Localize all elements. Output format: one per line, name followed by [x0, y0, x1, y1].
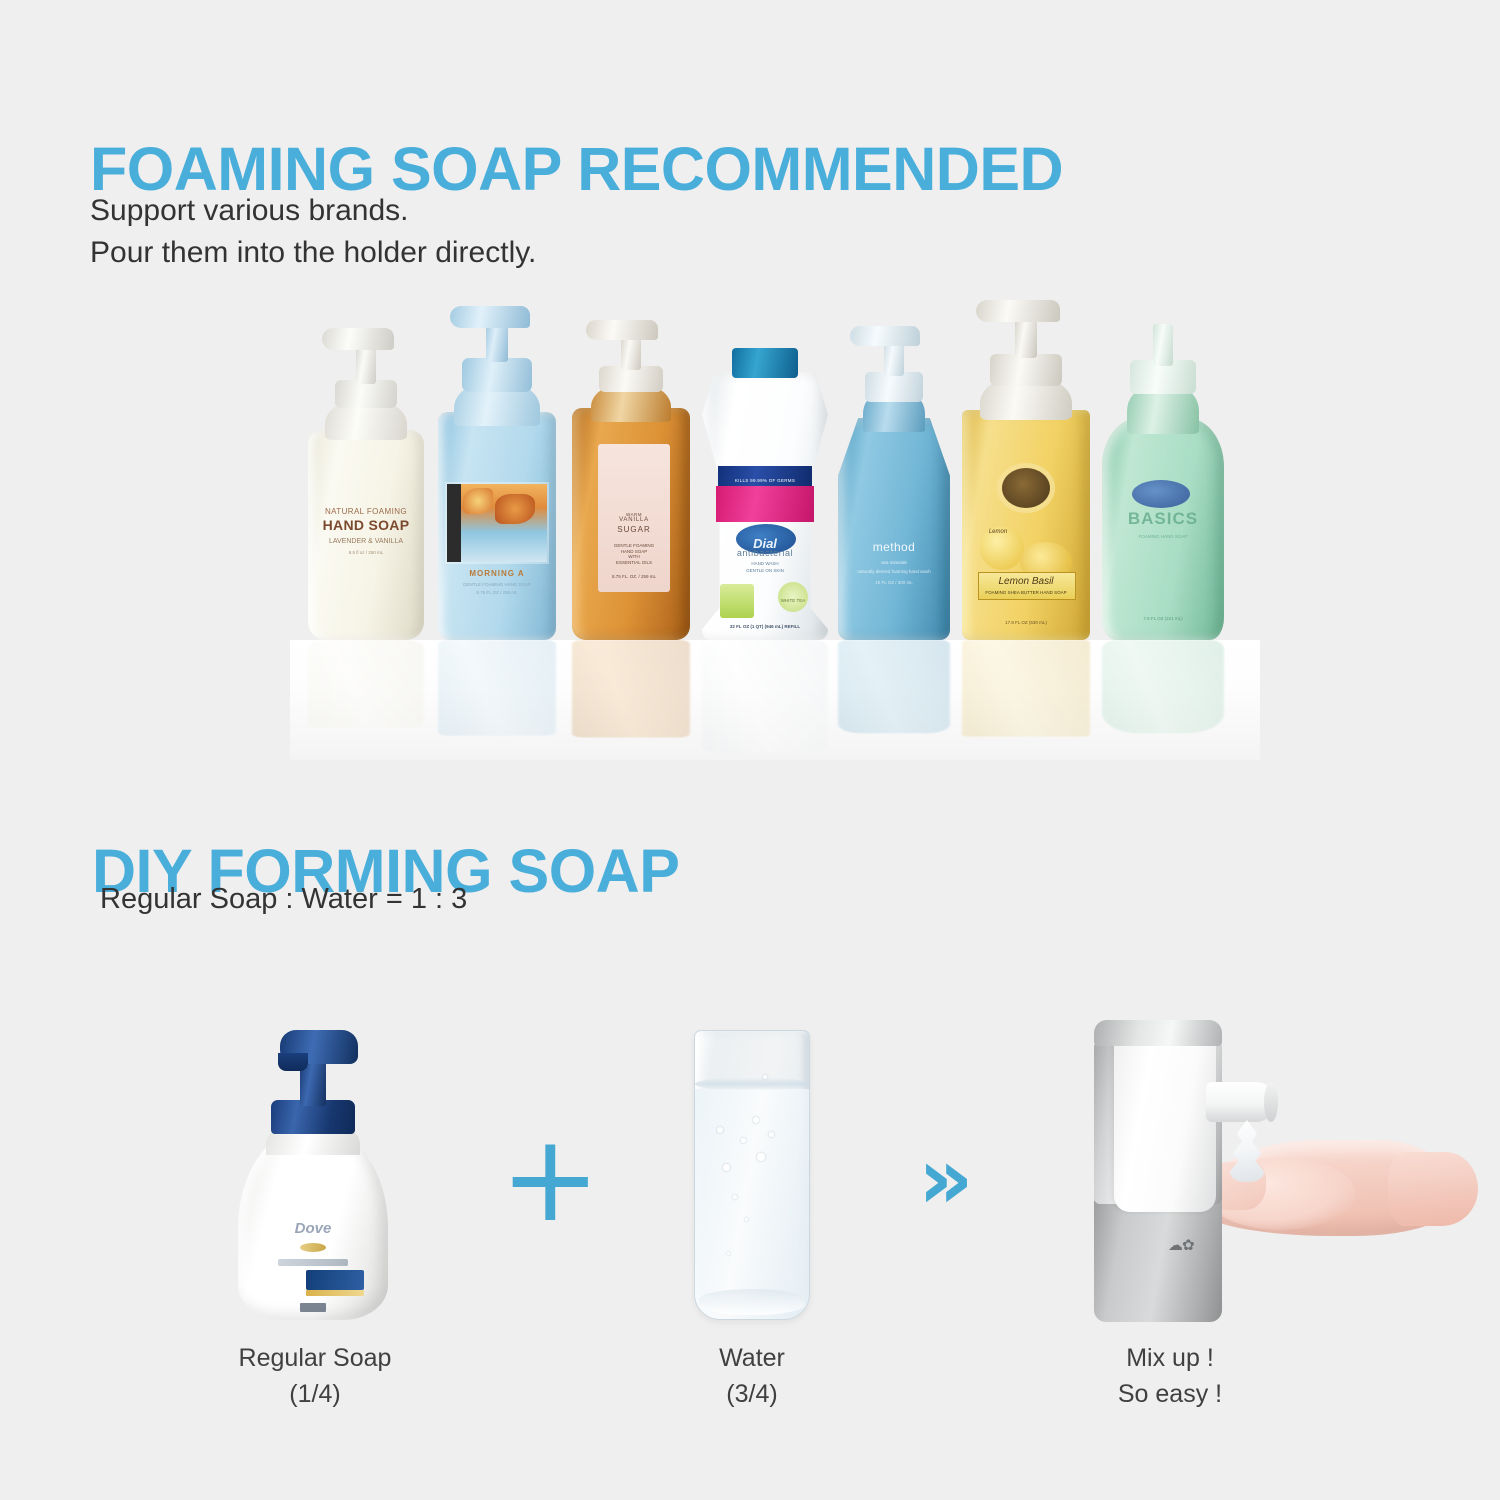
bottle-natural-foaming-hand-soap: NATURAL FOAMING HAND SOAP LAVENDER & VAN…: [308, 340, 424, 640]
ratio-text: Regular Soap : Water = 1 : 3: [100, 883, 467, 916]
bottle-label-lemon: Lemon: [973, 529, 1023, 537]
hand-sensor-icon: ☁✿: [1168, 1238, 1214, 1264]
display-surface: [290, 640, 1260, 760]
pump-head: [976, 300, 1060, 322]
bottle-label: WARM VANILLA SUGAR GENTLE FOAMING HAND S…: [598, 512, 670, 580]
bottle-method-foaming-hand-wash: method sea minerals naturally derived fo…: [838, 324, 950, 640]
caption-line-2: (1/4): [155, 1376, 475, 1412]
bottle-lemon-basil-foaming-soap: Lemon Lemon Basil FOAMING SHEA BUTTER HA…: [962, 292, 1090, 640]
dispenser-front-panel: [1114, 1030, 1216, 1212]
label-line-5: GENTLE ON SKIN: [715, 568, 815, 574]
label-line-4: 7.5 FL OZ (221 mL): [1110, 616, 1216, 622]
bottle-label-volume: 7.5 FL OZ (221 mL): [1110, 616, 1216, 622]
label-line-2: VANILLA: [598, 517, 670, 525]
bottle-vanilla-sugar-foaming-soap: WARM VANILLA SUGAR GENTLE FOAMING HAND S…: [572, 322, 690, 640]
infographic-page: FOAMING SOAP RECOMMENDED Support various…: [0, 0, 1500, 1500]
bubble: [733, 1195, 737, 1199]
bottle-lineup: NATURAL FOAMING HAND SOAP LAVENDER & VAN…: [290, 340, 1260, 760]
label-line-7: ESSENTIAL OILS: [598, 560, 670, 566]
subtitle-line-2: Pour them into the holder directly.: [90, 232, 536, 275]
label-line-1: KILLS 99.99% OF GERMS: [718, 478, 812, 484]
label-line-6: WHITE TEA: [778, 598, 808, 604]
pump-head: [450, 306, 530, 328]
pink-band: [716, 486, 814, 522]
water-fill: [695, 1089, 809, 1319]
label-line-3: naturally derived foaming hand wash: [846, 569, 942, 575]
dispenser-lid: [1094, 1020, 1222, 1046]
bottle-shoulder: [1127, 388, 1199, 434]
bottle-window: [1002, 468, 1050, 508]
caption-regular-soap: Regular Soap (1/4): [155, 1340, 475, 1413]
label-line-7: 32 FL OZ (1 QT) (946 mL) REFILL: [710, 624, 820, 630]
bubble: [757, 1153, 765, 1161]
label-line-2: Lemon Basil: [978, 576, 1074, 589]
label-text-bar-2: [300, 1303, 326, 1312]
bubble: [741, 1138, 746, 1143]
label-line-1: Lemon: [973, 529, 1023, 537]
label-line-4: 10 FL OZ / 300 mL: [846, 580, 942, 586]
promo-badge: [720, 584, 754, 618]
bottle-collar: [462, 358, 532, 392]
bottle-label: method sea minerals naturally derived fo…: [846, 540, 942, 586]
bottle-label: Lemon Basil FOAMING SHEA BUTTER HAND SOA…: [978, 576, 1074, 596]
caption-water: Water (3/4): [592, 1340, 912, 1413]
diy-step-regular-soap: Dove: [238, 1018, 408, 1320]
caption-line-1: Mix up !: [1010, 1340, 1330, 1376]
variant-badge: [778, 582, 808, 612]
label-line-1: MORNING A: [445, 569, 549, 579]
bottle-collar: [990, 354, 1062, 386]
label-line-2: BASICS: [1110, 508, 1216, 529]
caption-mix-result: Mix up ! So easy !: [1010, 1340, 1330, 1413]
bottle-label-volume: 17.8 FL OZ (530 mL): [971, 620, 1081, 626]
bottle-label-type: antibacterial HAND WASH GENTLE ON SKIN: [715, 548, 815, 575]
label-accent-block: [306, 1270, 364, 1290]
bottle-body: [838, 418, 950, 640]
plus-icon: +: [500, 1120, 601, 1240]
label-line-3: FOAMING HAND SOAP: [1110, 534, 1216, 540]
label-line-1: method: [846, 540, 942, 555]
bottle-cap: [732, 348, 798, 378]
label-line-1: NATURAL FOAMING: [314, 507, 418, 517]
soap-brand-label: Dove: [284, 1220, 342, 1236]
label-line-4: HAND WASH: [715, 561, 815, 567]
water-glass: [694, 1030, 810, 1320]
bubble: [717, 1127, 723, 1133]
diy-step-dispenser: ☁✿: [1088, 1010, 1488, 1322]
bubble: [753, 1117, 759, 1123]
pump-head: [586, 320, 658, 340]
bottle-collar: [335, 380, 397, 408]
brand-oval: [1132, 480, 1190, 508]
germ-claim-band: [718, 466, 812, 488]
bottle-label-volume: 32 FL OZ (1 QT) (946 mL) REFILL: [710, 624, 820, 630]
label-line-3: SUGAR: [598, 525, 670, 535]
label-gold-bar: [306, 1290, 364, 1296]
caption-line-1: Regular Soap: [155, 1340, 475, 1376]
glass-base: [699, 1289, 805, 1315]
diy-steps-row: Dove +: [0, 990, 1500, 1350]
brand-emblem: [300, 1243, 326, 1252]
bottle-label: BASICS FOAMING HAND SOAP: [1110, 508, 1216, 540]
bubble: [769, 1132, 774, 1137]
bubble: [727, 1252, 730, 1255]
label-line-8: 8.75 FL. OZ. / 259 mL: [598, 574, 670, 580]
label-line-4: 17.8 FL OZ (530 mL): [971, 620, 1081, 626]
pump-head: [1118, 310, 1194, 332]
bottle-label: MORNING A GENTLE FOAMING HAND SOAP 8.75 …: [445, 569, 549, 596]
label-line-3: FOAMING SHEA BUTTER HAND SOAP: [978, 590, 1074, 596]
label-text-bar-1: [278, 1259, 348, 1266]
label-line-2: GENTLE FOAMING HAND SOAP: [445, 582, 549, 588]
label-line-4: 8.5 fl oz / 250 mL: [314, 550, 418, 556]
label-line-2: sea minerals: [846, 560, 942, 566]
bubble: [745, 1218, 748, 1221]
bubble: [763, 1075, 767, 1079]
bottle-label-variant: WHITE TEA: [778, 598, 808, 604]
pump-head: [322, 328, 394, 350]
caption-line-2: (3/4): [592, 1376, 912, 1412]
bottle-collar: [865, 372, 923, 402]
bottle-antibacterial-hand-wash-refill: KILLS 99.99% OF GERMS Dial antibacterial…: [702, 304, 828, 640]
wrist: [1388, 1152, 1478, 1226]
label-line-3: LAVENDER & VANILLA: [314, 538, 418, 547]
bottle-photo-label: [447, 484, 547, 562]
pump-head: [850, 326, 920, 346]
bottle-label: NATURAL FOAMING HAND SOAP LAVENDER & VAN…: [314, 507, 418, 556]
diy-step-water: [694, 1028, 810, 1320]
dispenser-nozzle-cap: [1264, 1082, 1278, 1122]
bottle-label-germ: KILLS 99.99% OF GERMS: [718, 478, 812, 484]
label-line-2: HAND SOAP: [314, 517, 418, 535]
caption-line-1: Water: [592, 1340, 912, 1376]
label-line-3: antibacterial: [715, 548, 815, 559]
arrow-right-icon: »: [918, 1136, 968, 1222]
bottle-basics-foaming-hand-soap: BASICS FOAMING HAND SOAP 7.5 FL OZ (221 …: [1102, 306, 1224, 640]
soap-pump-spout: [278, 1053, 308, 1071]
subtitle-line-1: Support various brands.: [90, 190, 409, 233]
caption-line-2: So easy !: [1010, 1376, 1330, 1412]
bottle-body: [962, 410, 1090, 640]
label-line-3: 8.75 FL OZ / 259 mL: [445, 590, 549, 596]
bubble: [723, 1164, 730, 1171]
bottle-morning-blue-foaming-soap: MORNING A GENTLE FOAMING HAND SOAP 8.75 …: [438, 308, 556, 640]
